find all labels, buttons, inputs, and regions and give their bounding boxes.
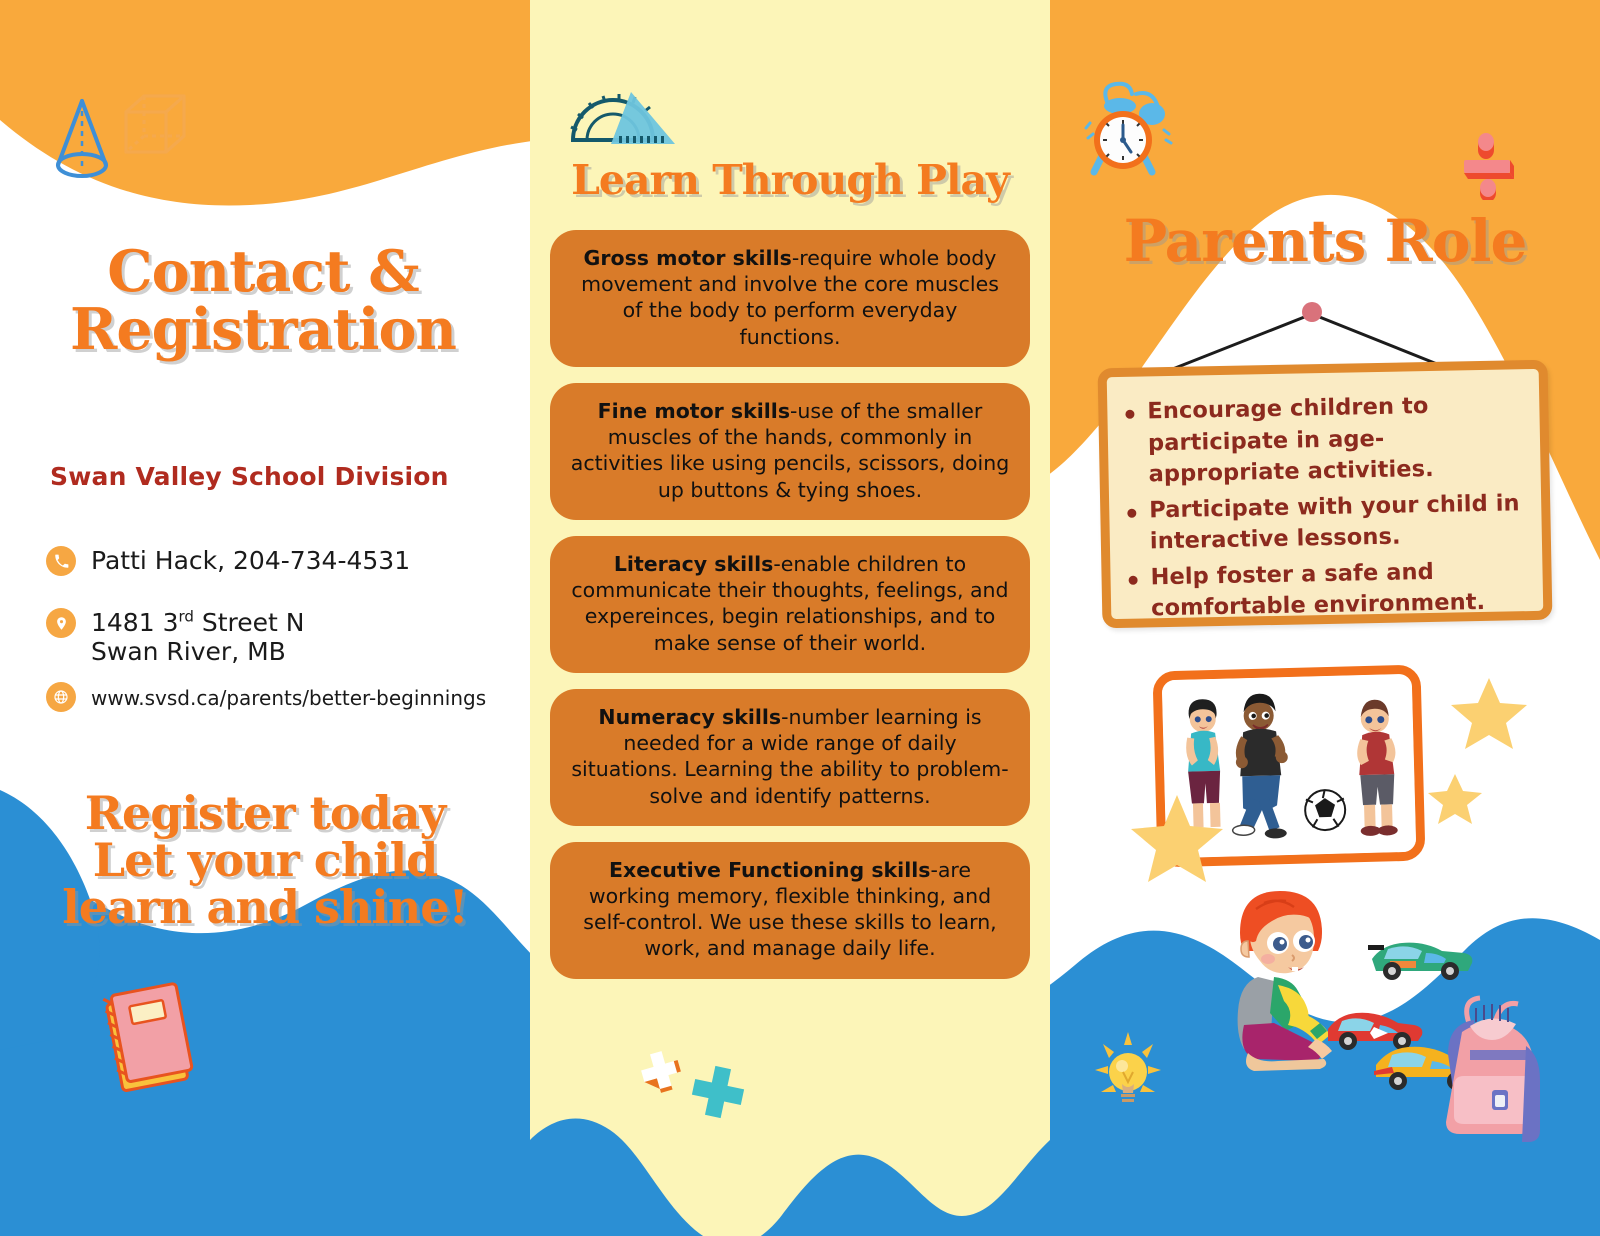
cta-line2: Let your child xyxy=(40,837,490,884)
contact-website-row[interactable]: www.svsd.ca/parents/better-beginnings xyxy=(46,682,486,712)
star-icon xyxy=(1447,673,1531,755)
middle-column-panel: Learn Through Play Gross motor skills-re… xyxy=(530,0,1050,1236)
skill-term: Fine motor skills xyxy=(598,399,790,423)
contact-address-row[interactable]: 1481 3rd Street N Swan River, MB xyxy=(46,608,304,666)
hanging-sign: Encourage children to participate in age… xyxy=(1090,296,1560,641)
page-title-line2: Registration xyxy=(28,301,498,359)
address-line2: Swan River, MB xyxy=(91,637,286,666)
protractor-ruler-icon xyxy=(565,78,685,158)
skill-term: Executive Functioning skills xyxy=(609,858,930,882)
backpack-icon xyxy=(1440,992,1558,1142)
skill-card: Numeracy skills-number learning is neede… xyxy=(550,689,1030,826)
division-sign-icon xyxy=(1458,130,1520,200)
alarm-clock-icon xyxy=(1078,78,1174,178)
parents-role-bullet: Participate with your child in interacti… xyxy=(1149,488,1528,558)
cone-shape-icon xyxy=(48,95,116,185)
parents-role-bullet-list: Encourage children to participate in age… xyxy=(1107,369,1544,626)
address-line1: 1481 3rd Street N xyxy=(91,608,304,637)
skill-card: Literacy skills-enable children to commu… xyxy=(550,536,1030,673)
page-title-line1: Contact & xyxy=(28,243,498,301)
contact-phone-row[interactable]: Patti Hack, 204-734-4531 xyxy=(46,546,410,576)
contact-registration-panel: Contact & Registration Swan Valley Schoo… xyxy=(0,0,530,1236)
phone-icon xyxy=(46,546,76,576)
skill-term: Literacy skills xyxy=(614,552,774,576)
learn-through-play-heading: Learn Through Play xyxy=(530,160,1050,202)
parents-role-sign-board: Encourage children to participate in age… xyxy=(1098,360,1553,629)
cta-line1: Register today xyxy=(40,790,490,837)
contact-address-text: 1481 3rd Street N Swan River, MB xyxy=(91,608,304,666)
parents-role-bullet: Help foster a safe and comfortable envir… xyxy=(1150,555,1529,625)
lightbulb-icon xyxy=(1093,1030,1163,1110)
star-icon xyxy=(1425,770,1485,828)
middle-column-bottom-wave xyxy=(530,1000,1050,1236)
page-title: Contact & Registration xyxy=(28,243,498,359)
plus-sign-teal-icon xyxy=(688,1062,748,1122)
school-division-name: Swan Valley School Division xyxy=(50,462,500,491)
skill-card: Gross motor skills-require whole body mo… xyxy=(550,230,1030,367)
location-pin-icon xyxy=(46,608,76,638)
skill-card: Fine motor skills-use of the smaller mus… xyxy=(550,383,1030,520)
cta-line3: learn and shine! xyxy=(40,884,490,931)
cube-shape-icon xyxy=(120,90,188,172)
contact-website-text: www.svsd.ca/parents/better-beginnings xyxy=(91,682,486,710)
address-ordinal: rd xyxy=(178,608,193,626)
skill-term: Numeracy skills xyxy=(598,705,781,729)
register-call-to-action: Register today Let your child learn and … xyxy=(40,790,490,931)
parents-role-bullet: Encourage children to participate in age… xyxy=(1147,389,1527,491)
parents-role-heading: Parents Role xyxy=(1090,212,1560,271)
skill-term: Gross motor skills xyxy=(584,246,792,270)
skill-card: Executive Functioning skills-are working… xyxy=(550,842,1030,979)
brochure-page: Learn Through Play Gross motor skills-re… xyxy=(0,0,1600,1236)
contact-phone-text: Patti Hack, 204-734-4531 xyxy=(91,546,410,576)
globe-icon xyxy=(46,682,76,712)
skills-card-list: Gross motor skills-require whole body mo… xyxy=(550,230,1030,995)
plus-sign-orange-icon xyxy=(638,1048,684,1094)
star-icon xyxy=(1125,790,1230,890)
notebook-icon xyxy=(95,975,205,1095)
